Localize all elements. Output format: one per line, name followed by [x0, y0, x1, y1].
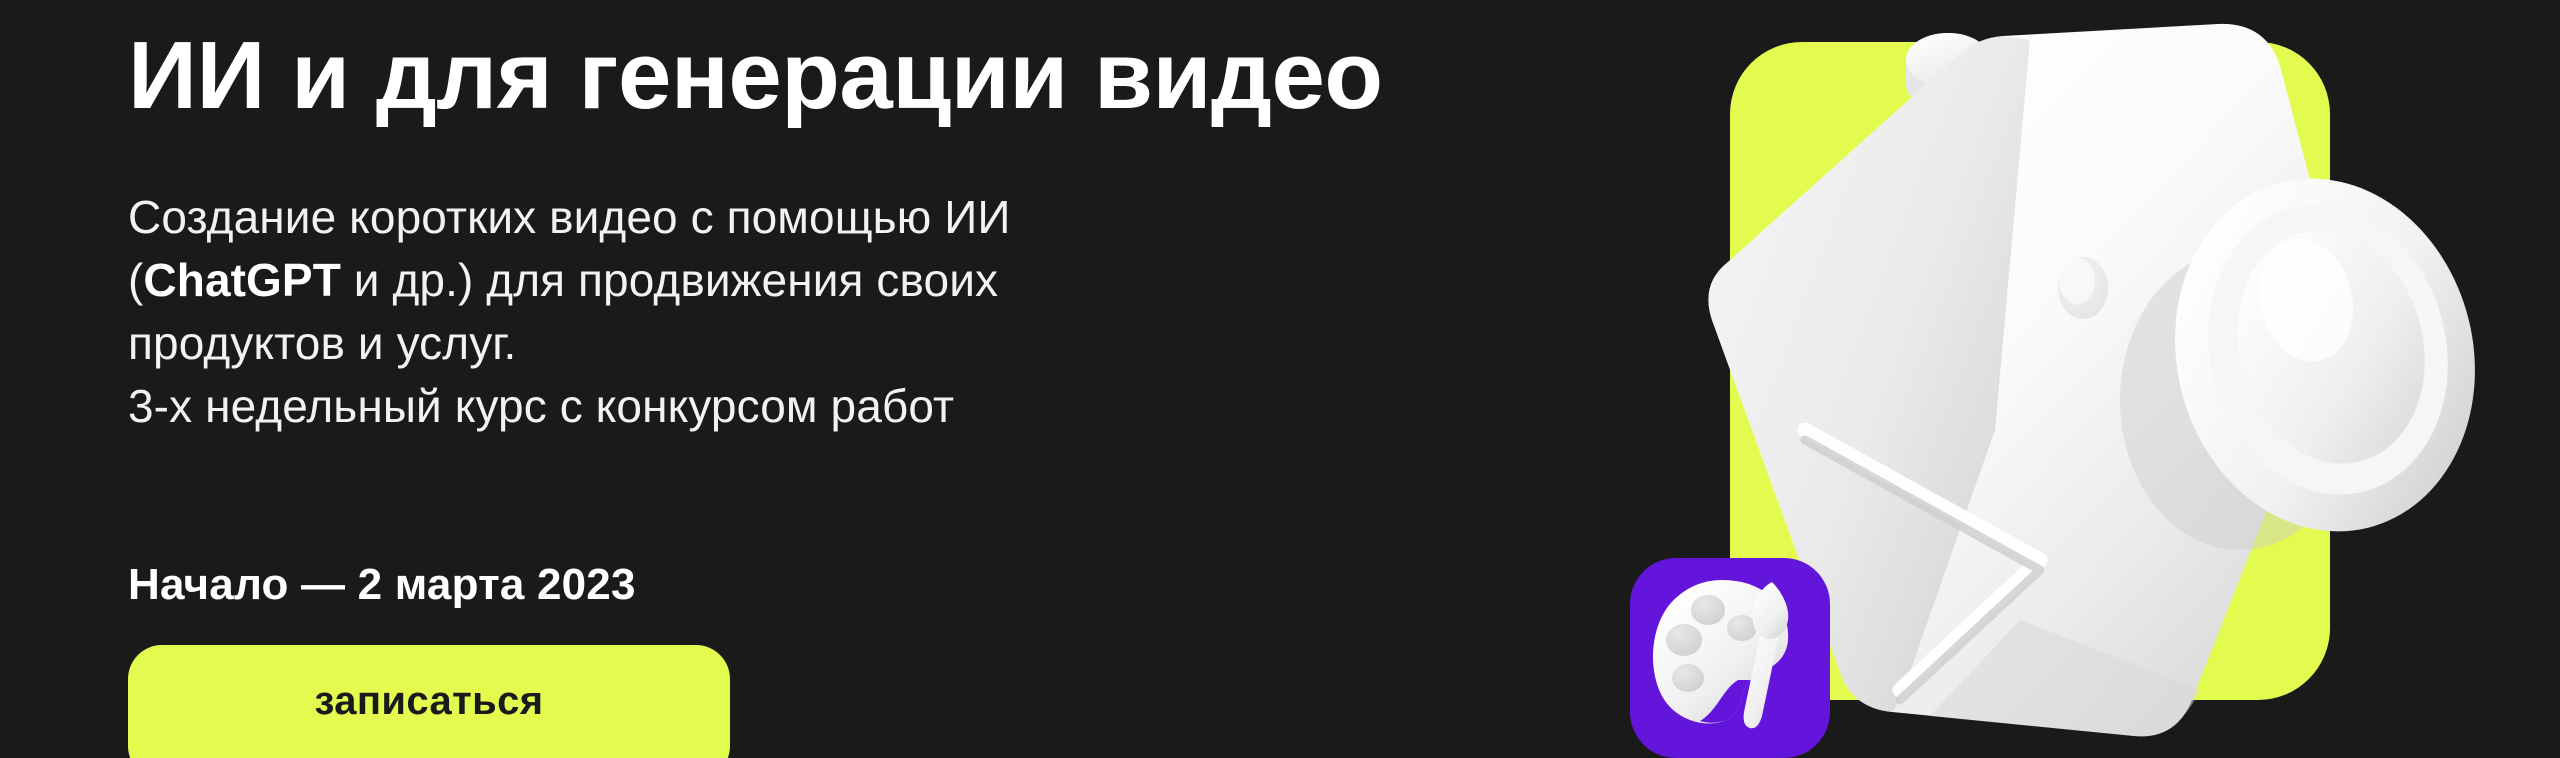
enroll-button[interactable]: записаться [128, 645, 730, 758]
promo-banner: ИИ и для генерации видео Создание коротк… [0, 0, 2560, 758]
description-line-1: Создание коротких видео с помощью ИИ [128, 186, 1011, 249]
description-text: Создание коротких видео с помощью ИИ (Ch… [128, 186, 1011, 438]
artwork-area [1600, 0, 2560, 758]
page-title: ИИ и для генерации видео [128, 26, 1382, 127]
paint-palette-app-icon[interactable] [1630, 558, 1830, 758]
description-line-2-prefix: ( [128, 254, 143, 306]
content-column: ИИ и для генерации видео Создание коротк… [128, 0, 1628, 758]
description-line-2-suffix: и др.) для продвижения своих [341, 254, 998, 306]
chatgpt-emphasis: ChatGPT [143, 254, 340, 306]
start-date-label: Начало — 2 марта 2023 [128, 560, 636, 610]
description-line-2: (ChatGPT и др.) для продвижения своих [128, 249, 1011, 312]
description-line-3: продуктов и услуг. [128, 312, 1011, 375]
description-line-4: 3-х недельный курс с конкурсом работ [128, 375, 1011, 438]
